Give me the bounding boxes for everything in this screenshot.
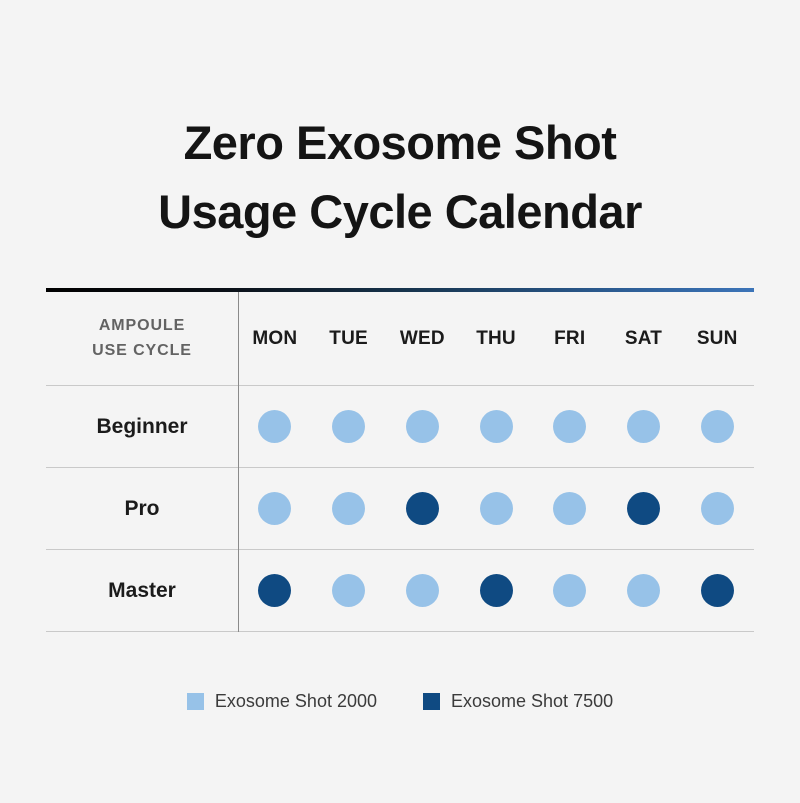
day-header-cells: MON TUE WED THU FRI SAT SUN bbox=[238, 328, 754, 350]
table-grid: AMPOULE USE CYCLE MON TUE WED THU FRI SA… bbox=[46, 292, 754, 632]
table-row: Master bbox=[46, 550, 754, 632]
dot-cell bbox=[607, 574, 681, 607]
row-dot-cells bbox=[238, 492, 754, 525]
dot-cell bbox=[533, 492, 607, 525]
page-title: Zero Exosome Shot Usage Cycle Calendar bbox=[0, 108, 800, 246]
legend-swatch-icon bbox=[187, 693, 204, 710]
dot-cell bbox=[607, 492, 681, 525]
dot-cell bbox=[459, 410, 533, 443]
usage-dot bbox=[701, 492, 734, 525]
table-header-row: AMPOULE USE CYCLE MON TUE WED THU FRI SA… bbox=[46, 292, 754, 386]
dot-cell bbox=[385, 410, 459, 443]
chart-legend: Exosome Shot 2000 Exosome Shot 7500 bbox=[0, 691, 800, 712]
legend-label: Exosome Shot 2000 bbox=[215, 691, 377, 712]
dot-cell bbox=[238, 410, 312, 443]
usage-dot bbox=[480, 410, 513, 443]
legend-swatch-icon bbox=[423, 693, 440, 710]
dot-cell bbox=[459, 492, 533, 525]
usage-dot bbox=[406, 410, 439, 443]
dot-cell bbox=[533, 410, 607, 443]
day-label: FRI bbox=[554, 328, 585, 350]
dot-cell bbox=[385, 574, 459, 607]
legend-item: Exosome Shot 7500 bbox=[423, 691, 613, 712]
usage-dot bbox=[627, 574, 660, 607]
dot-cell bbox=[607, 410, 681, 443]
day-header-cell: TUE bbox=[312, 328, 386, 350]
row-dot-cells bbox=[238, 574, 754, 607]
calendar-infographic: Zero Exosome Shot Usage Cycle Calendar A… bbox=[0, 0, 800, 803]
dot-cell bbox=[238, 492, 312, 525]
usage-dot bbox=[406, 574, 439, 607]
usage-dot bbox=[258, 574, 291, 607]
dot-cell bbox=[312, 410, 386, 443]
legend-label: Exosome Shot 7500 bbox=[451, 691, 613, 712]
row-label-cell: Master bbox=[46, 579, 238, 603]
table-row: Pro bbox=[46, 468, 754, 550]
table-column-divider bbox=[238, 292, 239, 632]
row-label: Beginner bbox=[96, 415, 187, 438]
usage-dot bbox=[258, 492, 291, 525]
usage-dot bbox=[701, 574, 734, 607]
dot-cell bbox=[459, 574, 533, 607]
dot-cell bbox=[533, 574, 607, 607]
usage-dot bbox=[332, 492, 365, 525]
day-label: MON bbox=[252, 328, 297, 350]
usage-dot bbox=[480, 492, 513, 525]
usage-dot bbox=[258, 410, 291, 443]
legend-item: Exosome Shot 2000 bbox=[187, 691, 377, 712]
table-row: Beginner bbox=[46, 386, 754, 468]
table-corner-header: AMPOULE USE CYCLE bbox=[46, 314, 238, 364]
usage-dot bbox=[480, 574, 513, 607]
page-title-line-1: Zero Exosome Shot bbox=[0, 108, 800, 177]
usage-dot bbox=[701, 410, 734, 443]
day-label: SAT bbox=[625, 328, 662, 350]
row-dot-cells bbox=[238, 410, 754, 443]
dot-cell bbox=[385, 492, 459, 525]
usage-dot bbox=[627, 492, 660, 525]
day-label: TUE bbox=[329, 328, 368, 350]
day-header-cell: SUN bbox=[680, 328, 754, 350]
dot-cell bbox=[238, 574, 312, 607]
dot-cell bbox=[680, 574, 754, 607]
row-label: Master bbox=[108, 579, 176, 602]
corner-header-line-2: USE CYCLE bbox=[46, 339, 238, 364]
dot-cell bbox=[680, 410, 754, 443]
day-header-cell: WED bbox=[385, 328, 459, 350]
usage-dot bbox=[332, 574, 365, 607]
usage-dot bbox=[406, 492, 439, 525]
day-header-cell: SAT bbox=[607, 328, 681, 350]
day-label: WED bbox=[400, 328, 445, 350]
day-label: SUN bbox=[697, 328, 738, 350]
page-title-line-2: Usage Cycle Calendar bbox=[0, 177, 800, 246]
usage-dot bbox=[332, 410, 365, 443]
dot-cell bbox=[312, 574, 386, 607]
corner-header-line-1: AMPOULE bbox=[46, 314, 238, 339]
usage-cycle-table: AMPOULE USE CYCLE MON TUE WED THU FRI SA… bbox=[46, 288, 754, 632]
row-label-cell: Pro bbox=[46, 497, 238, 521]
usage-dot bbox=[553, 492, 586, 525]
day-header-cell: MON bbox=[238, 328, 312, 350]
usage-dot bbox=[627, 410, 660, 443]
usage-dot bbox=[553, 410, 586, 443]
usage-dot bbox=[553, 574, 586, 607]
row-label: Pro bbox=[124, 497, 159, 520]
day-header-cell: THU bbox=[459, 328, 533, 350]
dot-cell bbox=[680, 492, 754, 525]
day-label: THU bbox=[476, 328, 516, 350]
dot-cell bbox=[312, 492, 386, 525]
day-header-cell: FRI bbox=[533, 328, 607, 350]
row-label-cell: Beginner bbox=[46, 415, 238, 439]
